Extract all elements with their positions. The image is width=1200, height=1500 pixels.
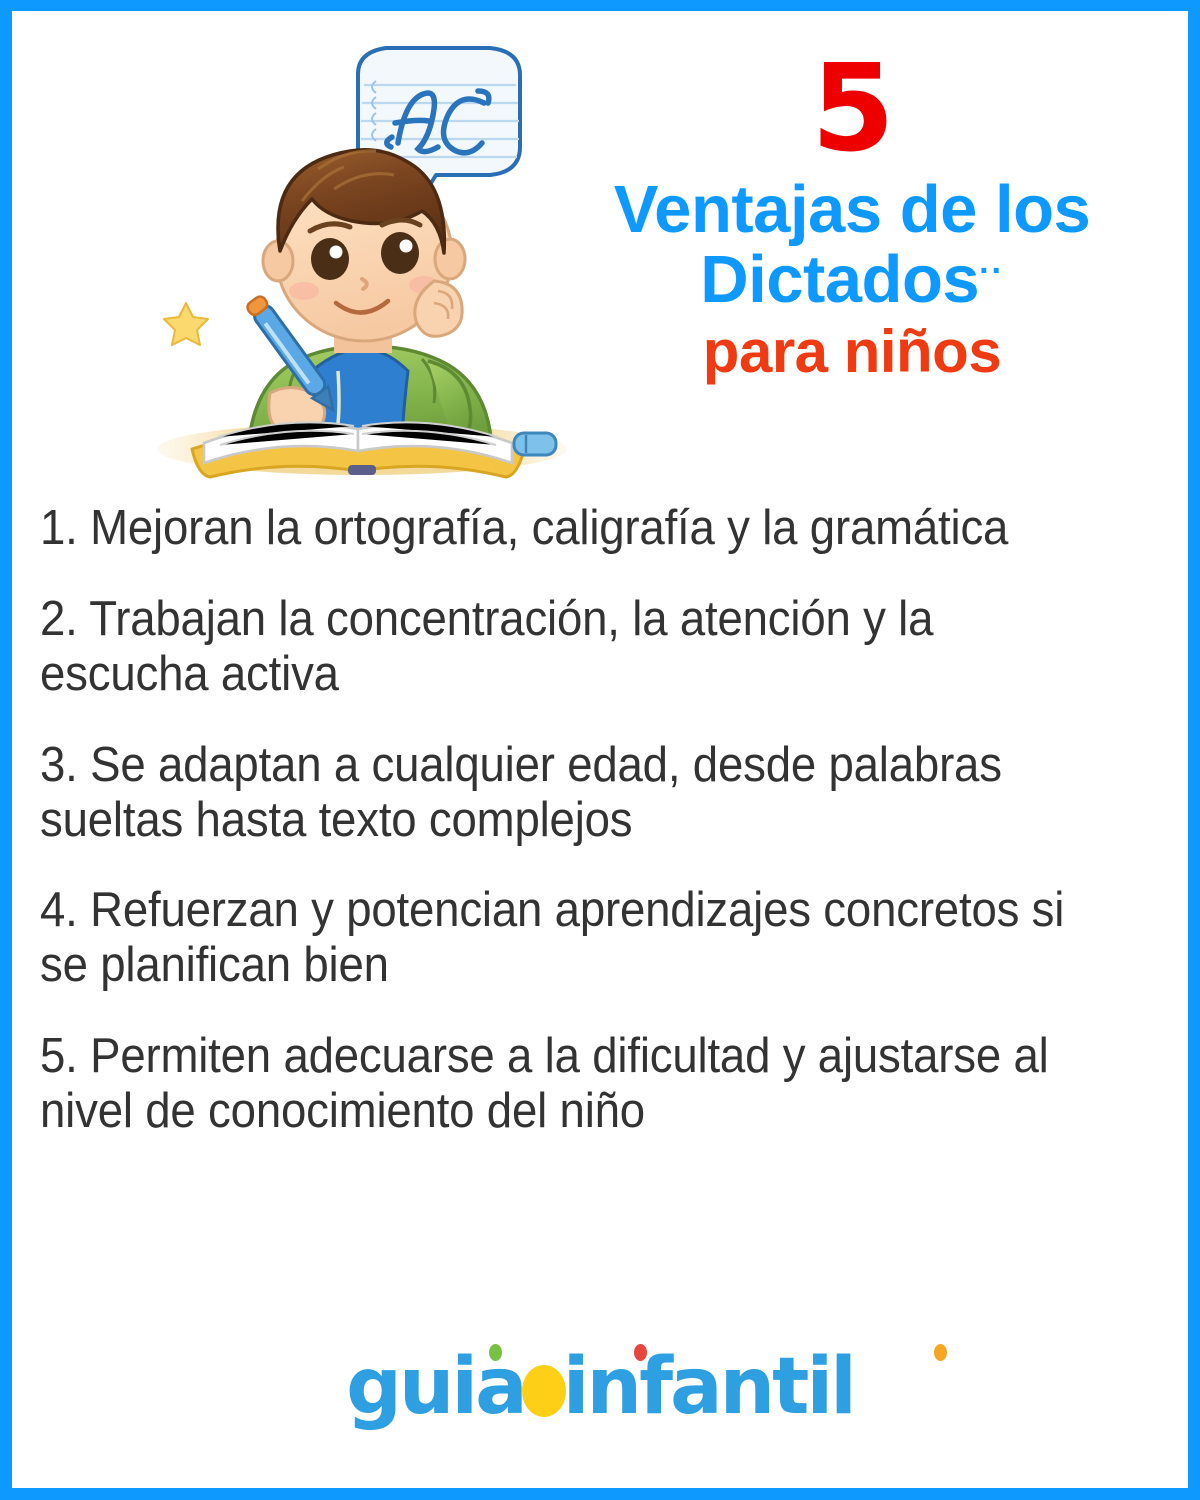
list-item: 5. Permiten adecuarse a la dificultad y … [40,1029,1086,1139]
poster-frame: 5 Ventajas de los Dictados·· para niños … [0,0,1200,1500]
benefits-list: 1. Mejoran la ortografía, caligrafía y l… [40,501,1165,1139]
logo-wordmark: guiainfantil [346,1348,854,1426]
page-title: Ventajas de los Dictados·· [552,175,1152,314]
title-line-2: Dictados [700,242,979,317]
list-item: 1. Mejoran la ortografía, caligrafía y l… [40,501,1086,556]
eraser-icon [514,433,556,455]
yellow-star-icon [164,303,208,345]
poster-header: 5 Ventajas de los Dictados·· para niños [12,11,1188,489]
logo-orange-dot-icon [934,1344,947,1361]
list-item: 4. Refuerzan y potencian aprendizajes co… [40,883,1086,993]
count-number: 5 [552,53,1152,167]
logo-green-dot-icon [489,1344,502,1361]
left-eye [311,238,349,280]
title-line-1: Ventajas de los [614,172,1091,247]
boy-writing-illustration [152,41,572,491]
page-subtitle: para niños [552,320,1152,383]
logo-yellow-dot-icon [522,1365,566,1417]
title-block: 5 Ventajas de los Dictados·· para niños [552,53,1152,383]
logo-part-infantil: infantil [563,1348,854,1426]
right-eye [381,232,419,274]
list-item: 2. Trabajan la concentración, la atenció… [40,592,1086,702]
logo-red-dot-icon [634,1344,647,1361]
poster-canvas: 5 Ventajas de los Dictados·· para niños … [12,11,1188,1488]
title-trailing-dots: ·· [979,252,1004,290]
open-book-icon [192,422,524,477]
brand-logo[interactable]: guiainfantil [12,1348,1188,1426]
list-item: 3. Se adaptan a cualquier edad, desde pa… [40,738,1086,848]
